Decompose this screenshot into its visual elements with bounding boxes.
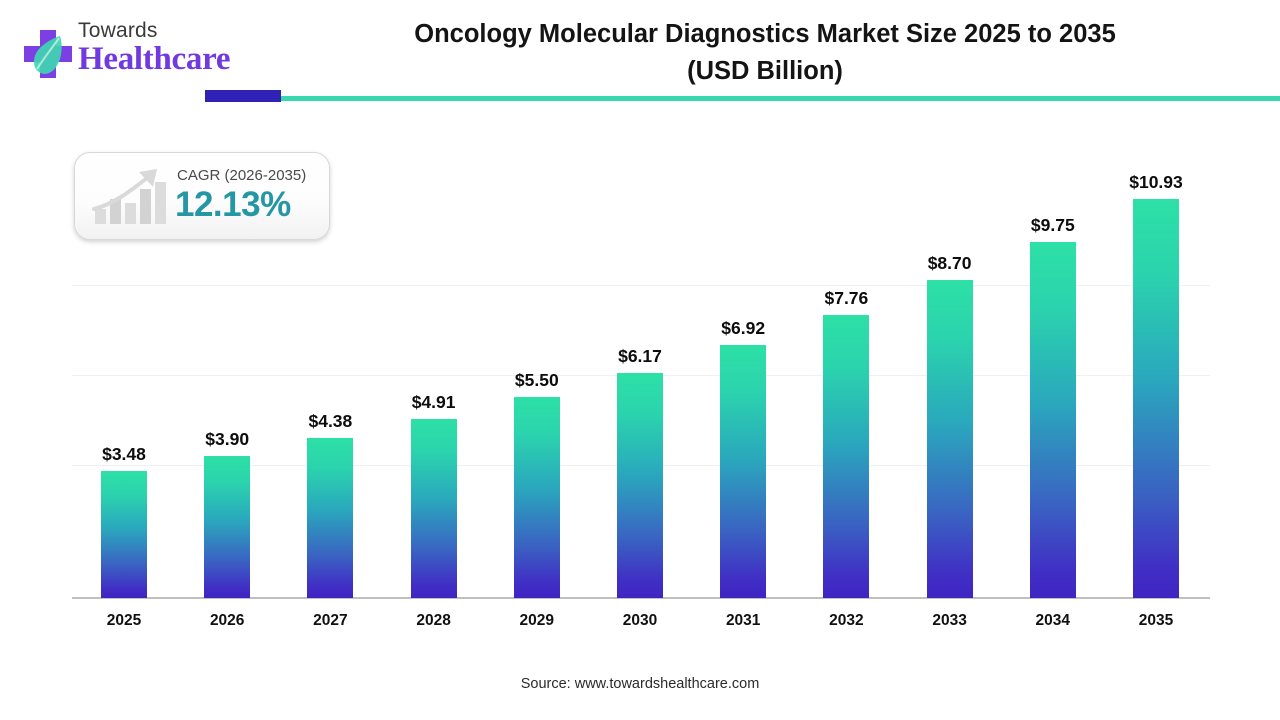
- x-axis-tick-label: 2031: [683, 612, 803, 630]
- bar-value-label: $3.90: [167, 429, 287, 450]
- bar[interactable]: [927, 280, 973, 598]
- bar-group: $3.90: [204, 456, 250, 598]
- bar-value-label: $7.76: [786, 288, 906, 309]
- bar-group: $9.75: [1030, 242, 1076, 598]
- bar-value-label: $5.50: [477, 370, 597, 391]
- bar-value-label: $9.75: [993, 215, 1113, 236]
- bar[interactable]: [617, 373, 663, 598]
- bar[interactable]: [823, 315, 869, 598]
- x-axis-tick-label: 2032: [786, 612, 906, 630]
- x-axis-tick-label: 2027: [270, 612, 390, 630]
- bar-group: $8.70: [927, 280, 973, 598]
- bar-value-label: $4.91: [374, 392, 494, 413]
- x-axis-tick-label: 2026: [167, 612, 287, 630]
- bar-value-label: $3.48: [64, 444, 184, 465]
- bar[interactable]: [204, 456, 250, 598]
- bar-value-label: $6.92: [683, 318, 803, 339]
- bar-group: $6.92: [720, 345, 766, 598]
- x-axis-tick-label: 2033: [890, 612, 1010, 630]
- bar-group: $7.76: [823, 315, 869, 598]
- bar[interactable]: [720, 345, 766, 598]
- bar[interactable]: [1133, 199, 1179, 598]
- bar-group: $3.48: [101, 471, 147, 598]
- source-note: Source: www.towardshealthcare.com: [0, 676, 1280, 692]
- x-axis-tick-label: 2030: [580, 612, 700, 630]
- bar-group: $4.38: [307, 438, 353, 598]
- bar-group: $10.93: [1133, 199, 1179, 598]
- bar[interactable]: [1030, 242, 1076, 598]
- bar[interactable]: [411, 419, 457, 598]
- x-axis-tick-label: 2035: [1096, 612, 1216, 630]
- x-axis-tick-label: 2029: [477, 612, 597, 630]
- x-axis-tick-label: 2028: [374, 612, 494, 630]
- bar-value-label: $6.17: [580, 346, 700, 367]
- bar[interactable]: [514, 397, 560, 598]
- bar-group: $6.17: [617, 373, 663, 598]
- bar-chart: $3.48$3.90$4.38$4.91$5.50$6.17$6.92$7.76…: [0, 0, 1280, 720]
- bar-value-label: $4.38: [270, 411, 390, 432]
- bar-group: $5.50: [514, 397, 560, 598]
- x-axis-tick-label: 2025: [64, 612, 184, 630]
- bar-value-label: $10.93: [1096, 172, 1216, 193]
- bar[interactable]: [307, 438, 353, 598]
- x-axis-tick-label: 2034: [993, 612, 1113, 630]
- bar[interactable]: [101, 471, 147, 598]
- bar-group: $4.91: [411, 419, 457, 598]
- bar-value-label: $8.70: [890, 253, 1010, 274]
